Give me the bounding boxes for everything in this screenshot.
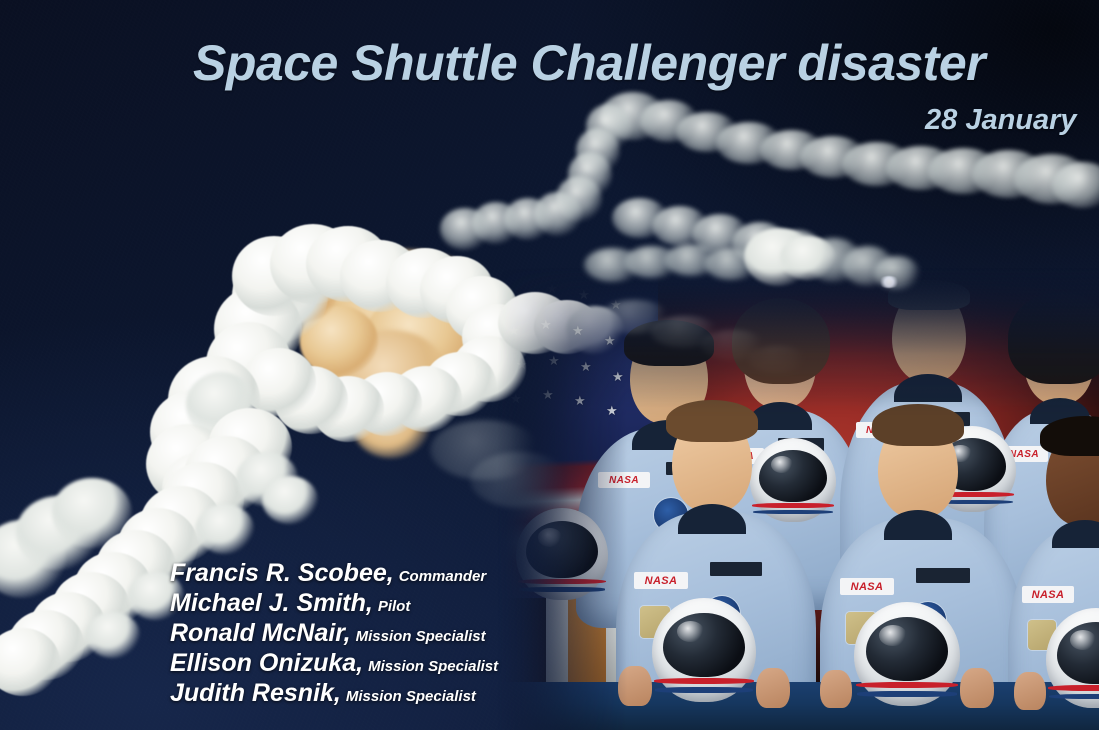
helmet	[854, 602, 960, 706]
helmet	[1046, 608, 1099, 708]
event-date: 28 January	[925, 104, 1077, 137]
list-item: Ellison Onizuka,Mission Specialist	[170, 648, 730, 678]
crew-member-role: Commander	[399, 568, 487, 585]
hand	[1014, 672, 1046, 710]
page-title: Space Shuttle Challenger disaster	[193, 34, 985, 92]
crew-member-role: Mission Specialist	[368, 658, 498, 675]
hand	[960, 668, 994, 708]
crew-member-name: Ronald McNair,	[170, 619, 351, 647]
crew-member-name: Judith Resnik,	[170, 679, 341, 707]
crew-list: Francis R. Scobee,Commander Michael J. S…	[170, 558, 730, 708]
crew-member-role: Mission Specialist	[346, 688, 476, 705]
crew-member-name: Francis R. Scobee,	[170, 559, 394, 587]
hand	[756, 668, 790, 708]
nasa-patch: NASA	[840, 578, 894, 595]
list-item: Judith Resnik,Mission Specialist	[170, 678, 730, 708]
crew-member-role: Mission Specialist	[356, 628, 486, 645]
list-item: Ronald McNair,Mission Specialist	[170, 618, 730, 648]
nasa-patch: NASA	[1022, 586, 1074, 603]
list-item: Michael J. Smith,Pilot	[170, 588, 730, 618]
hand	[820, 670, 852, 708]
crew-member-name: Ellison Onizuka,	[170, 649, 363, 677]
crew-member-role: Pilot	[378, 598, 411, 615]
list-item: Francis R. Scobee,Commander	[170, 558, 730, 588]
slide-canvas: ★ ★ ★ ★ ★ ★ ★ ★ ★ ★ ★ ★ ★ ★ ★ ★	[0, 0, 1099, 730]
crew-member-name: Michael J. Smith,	[170, 589, 373, 617]
